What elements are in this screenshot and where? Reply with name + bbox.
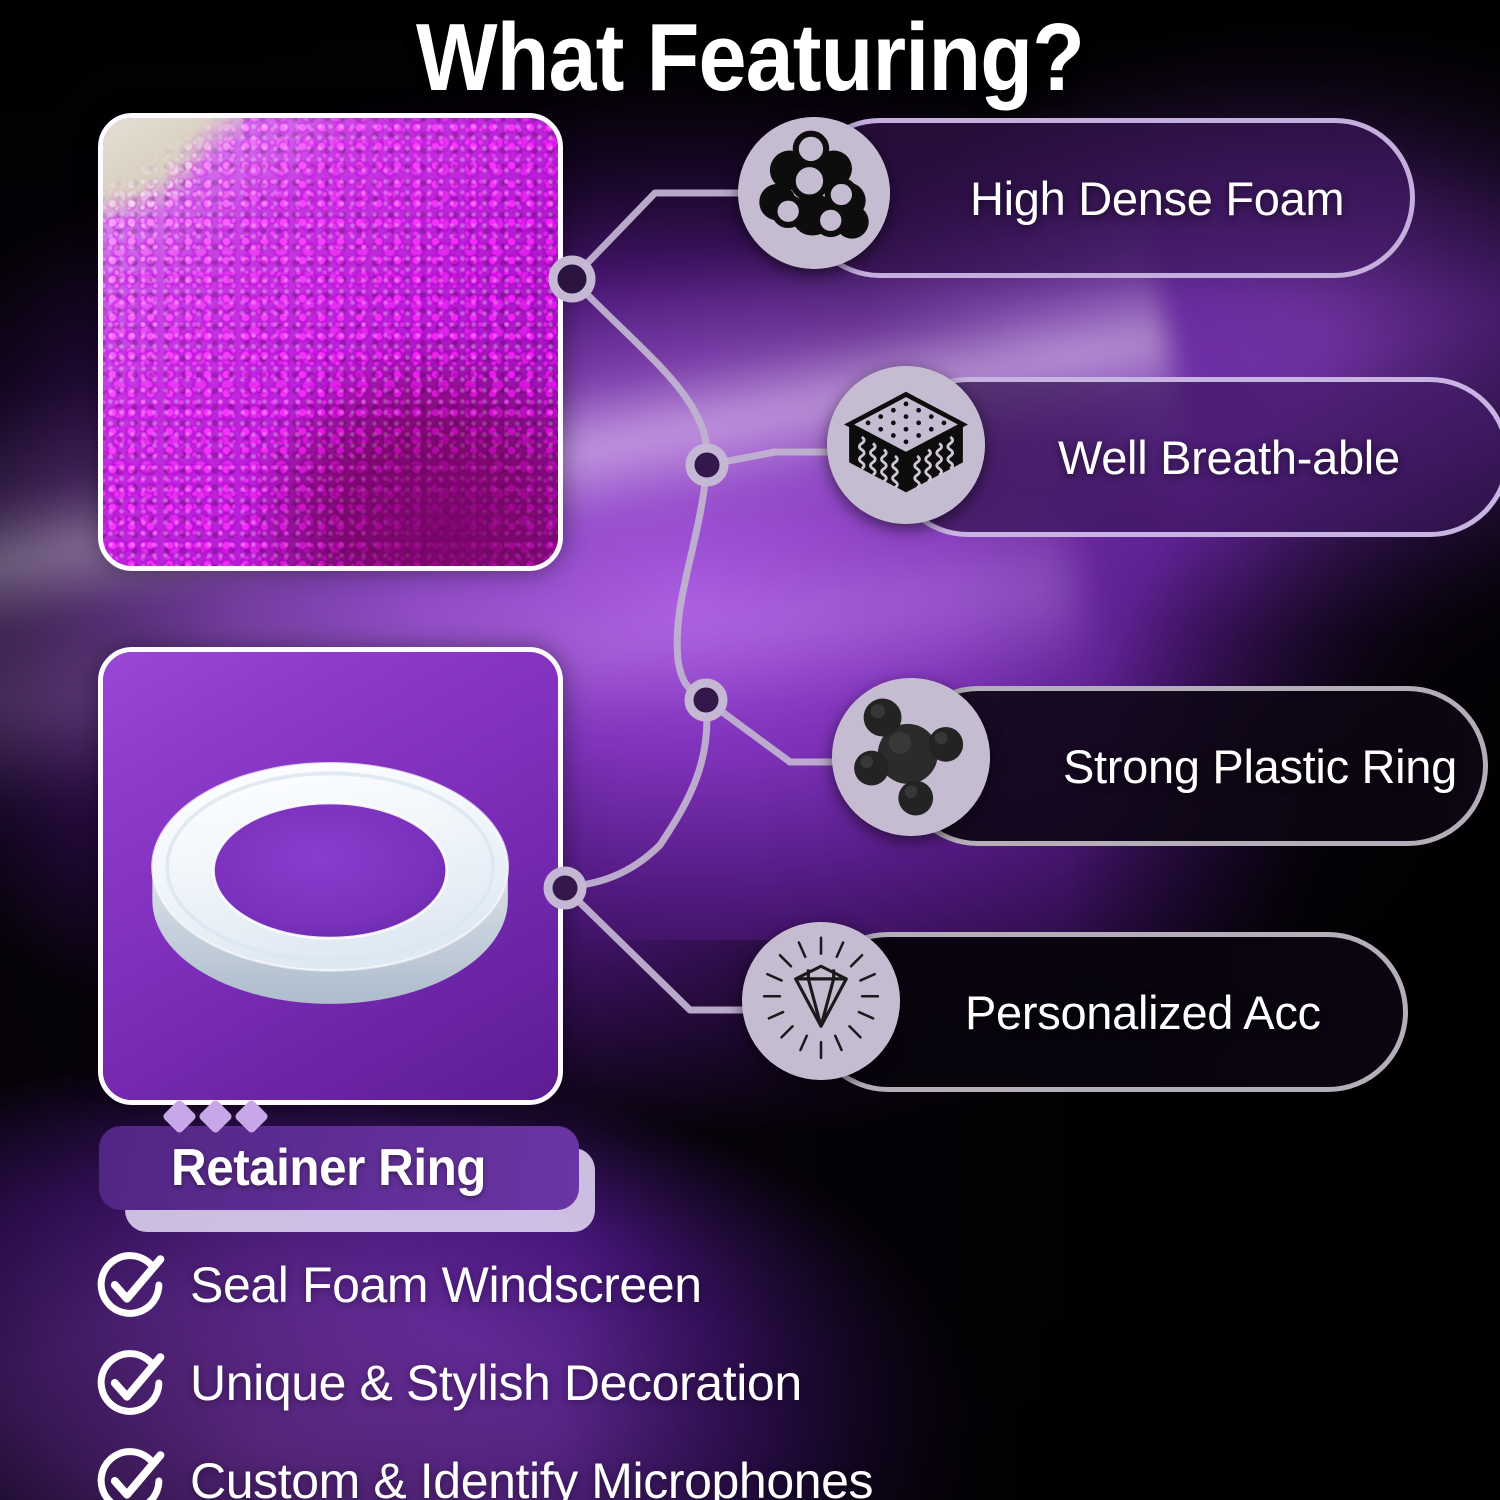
node-1 bbox=[553, 260, 591, 298]
checklist-item: Seal Foam Windscreen bbox=[92, 1247, 702, 1323]
node-3 bbox=[689, 683, 723, 717]
checklist-label: Unique & Stylish Decoration bbox=[190, 1354, 802, 1412]
checklist-item: Unique & Stylish Decoration bbox=[92, 1345, 802, 1421]
molecule-icon bbox=[832, 678, 990, 836]
breathable-mattress-icon bbox=[827, 366, 985, 524]
connector-node-group bbox=[548, 260, 724, 905]
feature-pill-high-dense-foam[interactable]: High Dense Foam bbox=[800, 118, 1415, 278]
banner-diamond-row bbox=[167, 1104, 264, 1129]
diamond-icon bbox=[162, 1099, 197, 1134]
checklist-item: Custom & Identify Microphones bbox=[92, 1443, 873, 1500]
infographic-canvas: What Featuring? bbox=[0, 0, 1500, 1500]
checklist-label: Custom & Identify Microphones bbox=[190, 1452, 873, 1500]
node-2 bbox=[690, 448, 724, 482]
checklist-label: Seal Foam Windscreen bbox=[190, 1256, 702, 1314]
diamond-icon bbox=[198, 1099, 233, 1134]
node-4 bbox=[548, 871, 582, 905]
banner-body: Retainer Ring bbox=[99, 1126, 579, 1210]
spine-curve bbox=[565, 279, 707, 888]
branch-high-dense-foam bbox=[572, 193, 760, 279]
diamond-icon bbox=[234, 1099, 269, 1134]
check-circle-icon bbox=[92, 1345, 168, 1421]
check-circle-icon bbox=[92, 1443, 168, 1500]
retainer-ring-banner: Retainer Ring bbox=[99, 1126, 599, 1234]
foam-bubbles-icon bbox=[738, 117, 890, 269]
feature-label: Personalized Acc bbox=[965, 985, 1321, 1040]
feature-label: Well Breath-able bbox=[1058, 430, 1400, 485]
branch-personalized-acc bbox=[565, 888, 768, 1010]
check-circle-icon bbox=[92, 1247, 168, 1323]
feature-label: High Dense Foam bbox=[970, 171, 1344, 226]
diamond-sparkle-icon bbox=[742, 922, 900, 1080]
feature-label: Strong Plastic Ring bbox=[1063, 739, 1457, 794]
banner-label: Retainer Ring bbox=[171, 1138, 486, 1198]
